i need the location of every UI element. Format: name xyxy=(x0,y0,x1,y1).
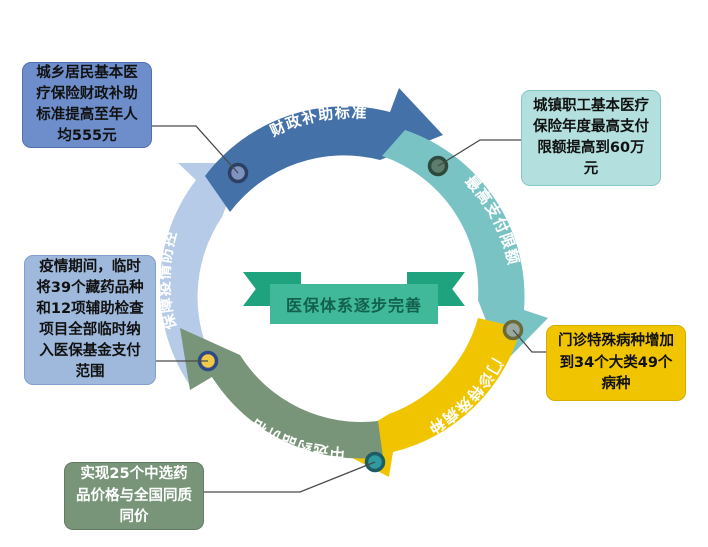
callout-box-bottom[interactable]: 实现25个中选药品价格与全国同质同价 xyxy=(64,462,204,530)
callout-text-topright: 城镇职工基本医疗保险年度最高支付限额提高到60万元 xyxy=(531,96,651,180)
callout-text-bottom: 实现25个中选药品价格与全国同质同价 xyxy=(74,464,194,527)
callout-box-left[interactable]: 疫情期间，临时将39个藏药品种和12项辅助检查项目全部临时纳入医保基金支付范围 xyxy=(24,255,156,385)
infographic-canvas: 保障疫情防控 财政补助标准 最高支付限额 门诊特殊病种 xyxy=(0,0,708,547)
callout-box-topright[interactable]: 城镇职工基本医疗保险年度最高支付限额提高到60万元 xyxy=(521,90,661,186)
callout-text-topleft: 城乡居民基本医疗保险财政补助标准提高至年人均555元 xyxy=(32,63,142,147)
center-banner: 医保体系逐步完善 xyxy=(243,272,465,324)
arc-segment-drugprice: 中选药品价格 xyxy=(180,328,383,462)
callout-text-left: 疫情期间，临时将39个藏药品种和12项辅助检查项目全部临时纳入医保基金支付范围 xyxy=(34,257,146,383)
banner-text: 医保体系逐步完善 xyxy=(286,292,422,316)
lead-bottom xyxy=(204,462,375,492)
callout-box-right[interactable]: 门诊特殊病种增加到34个大类49个病种 xyxy=(546,325,686,401)
callout-text-right: 门诊特殊病种增加到34个大类49个病种 xyxy=(556,331,676,394)
banner-panel: 医保体系逐步完善 xyxy=(270,284,438,324)
callout-box-topleft[interactable]: 城乡居民基本医疗保险财政补助标准提高至年人均555元 xyxy=(22,62,152,148)
